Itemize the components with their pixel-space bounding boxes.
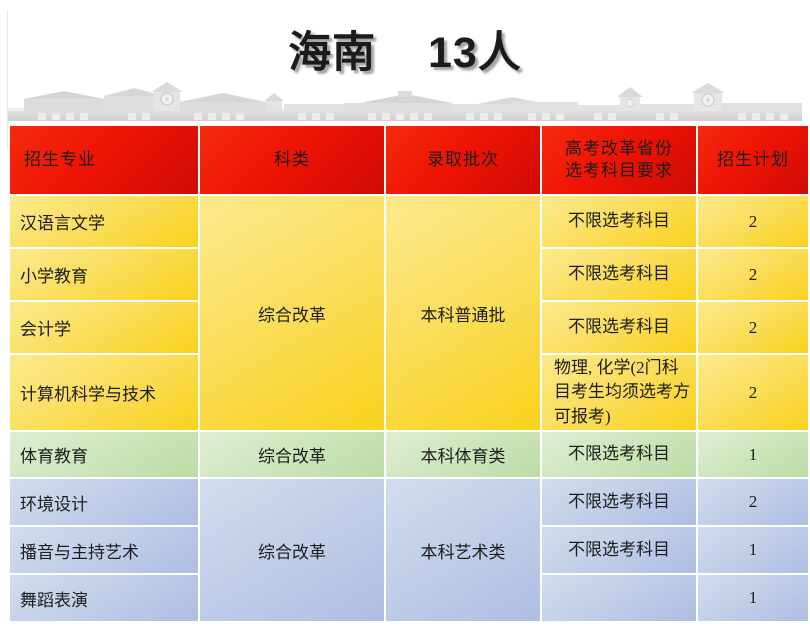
title-band: 海南 13人	[0, 14, 810, 84]
cell-batch: 本科普通批	[386, 196, 540, 430]
campus-building-silhouette-icon	[8, 82, 802, 122]
cell-subject-requirement: 不限选考科目	[542, 479, 696, 525]
cell-major: 汉语言文学	[10, 196, 198, 247]
table-row: 体育教育 综合改革 本科体育类 不限选考科目 1	[10, 432, 808, 477]
column-header-plan: 招生计划	[698, 126, 808, 194]
column-header-subject-requirement-line2: 选考科目要求	[552, 160, 686, 182]
cell-major: 会计学	[10, 302, 198, 353]
cell-plan: 1	[698, 432, 808, 477]
column-header-subject-requirement-line1: 高考改革省份	[552, 138, 686, 160]
cell-major: 计算机科学与技术	[10, 355, 198, 430]
cell-category: 综合改革	[200, 196, 384, 430]
cell-subject-requirement: 不限选考科目	[542, 302, 696, 353]
cell-major: 播音与主持艺术	[10, 527, 198, 573]
cell-plan: 2	[698, 479, 808, 525]
cell-major: 环境设计	[10, 479, 198, 525]
cell-plan: 2	[698, 302, 808, 353]
cell-subject-requirement	[542, 575, 696, 621]
table-header-row: 招生专业 科类 录取批次 高考改革省份 选考科目要求 招生计划	[10, 126, 808, 194]
table-row: 环境设计 综合改革 本科艺术类 不限选考科目 2	[10, 479, 808, 525]
table-row: 汉语言文学 综合改革 本科普通批 不限选考科目 2	[10, 196, 808, 247]
enrollment-plan-table-wrapper: 招生专业 科类 录取批次 高考改革省份 选考科目要求 招生计划 汉语言文学 综合…	[8, 124, 802, 623]
cell-category: 综合改革	[200, 432, 384, 477]
cell-plan: 1	[698, 575, 808, 621]
cell-batch: 本科艺术类	[386, 479, 540, 621]
column-header-major: 招生专业	[10, 126, 198, 194]
cell-subject-requirement: 不限选考科目	[542, 196, 696, 247]
cell-plan: 2	[698, 249, 808, 300]
cell-plan: 2	[698, 355, 808, 430]
cell-category: 综合改革	[200, 479, 384, 621]
column-header-batch: 录取批次	[386, 126, 540, 194]
column-header-subject-requirement: 高考改革省份 选考科目要求	[542, 126, 696, 194]
cell-plan: 1	[698, 527, 808, 573]
cell-subject-requirement: 不限选考科目	[542, 527, 696, 573]
cell-major: 体育教育	[10, 432, 198, 477]
page-title: 海南 13人	[288, 18, 522, 80]
cell-batch: 本科体育类	[386, 432, 540, 477]
cell-major: 舞蹈表演	[10, 575, 198, 621]
column-header-category: 科类	[200, 126, 384, 194]
cell-plan: 2	[698, 196, 808, 247]
enrollment-plan-table: 招生专业 科类 录取批次 高考改革省份 选考科目要求 招生计划 汉语言文学 综合…	[8, 124, 810, 623]
cell-subject-requirement: 不限选考科目	[542, 432, 696, 477]
cell-major: 小学教育	[10, 249, 198, 300]
slide-canvas: 海南 13人	[0, 0, 810, 626]
cell-subject-requirement: 物理, 化学(2门科目考生均须选考方可报考)	[542, 355, 696, 430]
cell-subject-requirement: 不限选考科目	[542, 249, 696, 300]
